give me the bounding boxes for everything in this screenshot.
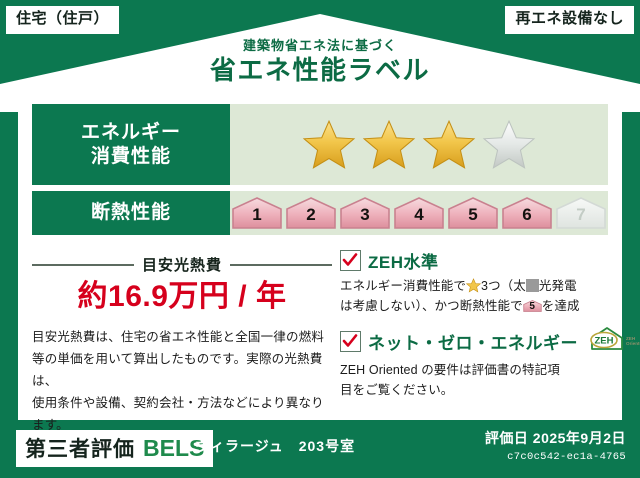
zeh-house-logo: ZEH ZEH Oriented [587, 326, 640, 357]
insulation-level-4-label: 4 [393, 196, 445, 230]
net-zero-title: ネット・ゼロ・エネルギー [368, 329, 578, 354]
rule-left [32, 264, 134, 266]
insulation-level-2-label: 2 [285, 196, 337, 230]
utility-cost-value: 約16.9万円 / 年 [32, 279, 332, 315]
redacted-block [526, 279, 539, 292]
zeh-desc-star-count: 3つ（太 [481, 279, 526, 293]
net-zero-desc-line2: 目をご覧ください。 [340, 380, 608, 400]
utility-cost-note-line1: 目安光熱費は、住宅の省エネ性能と全国一律の燃料 [32, 327, 332, 349]
insulation-level-5-label: 5 [447, 196, 499, 230]
insulation-level-6-label: 6 [501, 196, 553, 230]
insulation-level-4: 4 [393, 196, 445, 230]
checkbox-net-zero[interactable] [340, 331, 361, 352]
check-icon [342, 333, 358, 349]
evaluation-date: 評価日 2025年9月2日 [485, 428, 626, 448]
star-icon-filled-1 [302, 119, 356, 171]
row-label-energy: エネルギー 消費性能 [32, 104, 230, 185]
zeh-desc-part-a: エネルギー消費性能で [340, 279, 466, 293]
zeh-logo-icon: ZEH ZEH Oriented [587, 326, 640, 352]
utility-cost-note-line2: 等の単価を用いて算出したものです。実際の光熱費は、 [32, 349, 332, 393]
insulation-level-1: 1 [231, 196, 283, 230]
utility-cost-heading-text: 目安光熱費 [142, 254, 222, 275]
tag-renewable-equipment: 再エネ設備なし [505, 6, 634, 34]
insulation-level-3: 3 [339, 196, 391, 230]
insulation-level-7-label: 7 [555, 196, 607, 230]
row-energy-performance: エネルギー 消費性能 [32, 104, 608, 185]
utility-cost-heading: 目安光熱費 [32, 254, 332, 275]
label-footer: 第三者評価 BELS ヴィラージュ 203号室 評価日 2025年9月2日 c7… [0, 422, 640, 478]
label-body-card: エネルギー 消費性能 [18, 96, 622, 420]
evaluation-info: 評価日 2025年9月2日 c7c0c542-ec1a-4765 [485, 428, 626, 463]
insulation-level-2: 2 [285, 196, 337, 230]
insulation-level-6: 6 [501, 196, 553, 230]
bels-energy-label: 住宅（住戸） 再エネ設備なし 建築物省エネ法に基づく 省エネ性能ラベル エネルギ… [0, 0, 640, 478]
energy-label-line1: エネルギー [81, 121, 181, 145]
bels-badge-ja: 第三者評価 [25, 433, 135, 463]
energy-star-rating [230, 104, 608, 185]
net-zero-description: ZEH Oriented の要件は評価書の特記項 目をご覧ください。 [340, 360, 608, 401]
utility-cost-note: 目安光熱費は、住宅の省エネ性能と全国一律の燃料 等の単価を用いて算出したものです… [32, 327, 332, 436]
property-unit-name: ヴィラージュ 203号室 [195, 436, 355, 456]
insulation-badge-inline-label: 5 [523, 298, 542, 314]
insulation-level-7: 7 [555, 196, 607, 230]
zeh-desc-part-d: を達成 [542, 299, 580, 313]
zeh-level-heading: ZEH水準 [340, 248, 608, 273]
zeh-level-title: ZEH水準 [368, 248, 439, 273]
insulation-badge-inline: 5 [523, 298, 542, 314]
star-icon-filled-2 [362, 119, 416, 171]
star-icon-inline [466, 278, 481, 293]
lower-columns: 目安光熱費 約16.9万円 / 年 目安光熱費は、住宅の省エネ性能と全国一律の燃… [32, 248, 608, 436]
zeh-desc-part-b: 光発電 [539, 279, 577, 293]
svg-text:Oriented: Oriented [626, 341, 640, 346]
svg-text:ZEH: ZEH [595, 335, 614, 346]
insulation-level-3-label: 3 [339, 196, 391, 230]
energy-label-line2: 消費性能 [81, 145, 181, 169]
performance-rows: エネルギー 消費性能 [32, 104, 608, 241]
rule-right [230, 264, 332, 266]
insulation-level-5: 5 [447, 196, 499, 230]
insulation-level-1-label: 1 [231, 196, 283, 230]
zeh-desc-part-c: は考慮しない）、かつ断熱性能で [340, 299, 523, 313]
zeh-level-description: エネルギー消費性能で3つ（太光発電 は考慮しない）、かつ断熱性能で5を達成 [340, 276, 608, 317]
insulation-level-scale: 1 2 3 4 5 [230, 191, 608, 235]
star-icon-filled-3 [422, 119, 476, 171]
checkbox-zeh-level[interactable] [340, 250, 361, 271]
star-icon-empty-4 [482, 119, 536, 171]
net-zero-desc-line1: ZEH Oriented の要件は評価書の特記項 [340, 360, 608, 380]
row-label-insulation: 断熱性能 [32, 191, 230, 235]
bels-badge: 第三者評価 BELS [16, 430, 213, 467]
zeh-column: ZEH水準 エネルギー消費性能で3つ（太光発電 は考慮しない）、かつ断熱性能で5… [340, 248, 608, 436]
evaluation-id: c7c0c542-ec1a-4765 [485, 451, 626, 463]
tag-building-type: 住宅（住戸） [6, 6, 119, 34]
row-insulation-performance: 断熱性能 1 [32, 191, 608, 235]
utility-cost-column: 目安光熱費 約16.9万円 / 年 目安光熱費は、住宅の省エネ性能と全国一律の燃… [32, 248, 332, 436]
check-icon [342, 252, 358, 268]
net-zero-heading: ネット・ゼロ・エネルギー ZEH ZEH Oriented [340, 326, 608, 357]
